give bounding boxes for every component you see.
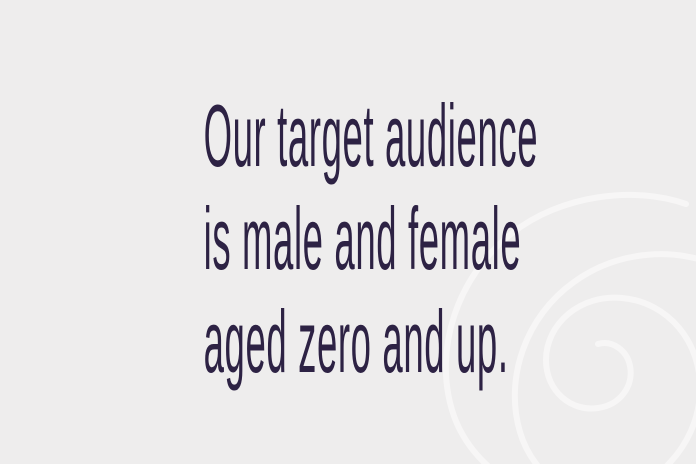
quote-line-1: Our target audience [204,84,493,187]
quote-card: Our target audience is male and female a… [0,0,696,464]
quote-text-block: Our target audience is male and female a… [0,84,696,393]
quote-line-2: is male and female [204,187,493,290]
quote-line-3: aged zero and up. [204,290,493,393]
